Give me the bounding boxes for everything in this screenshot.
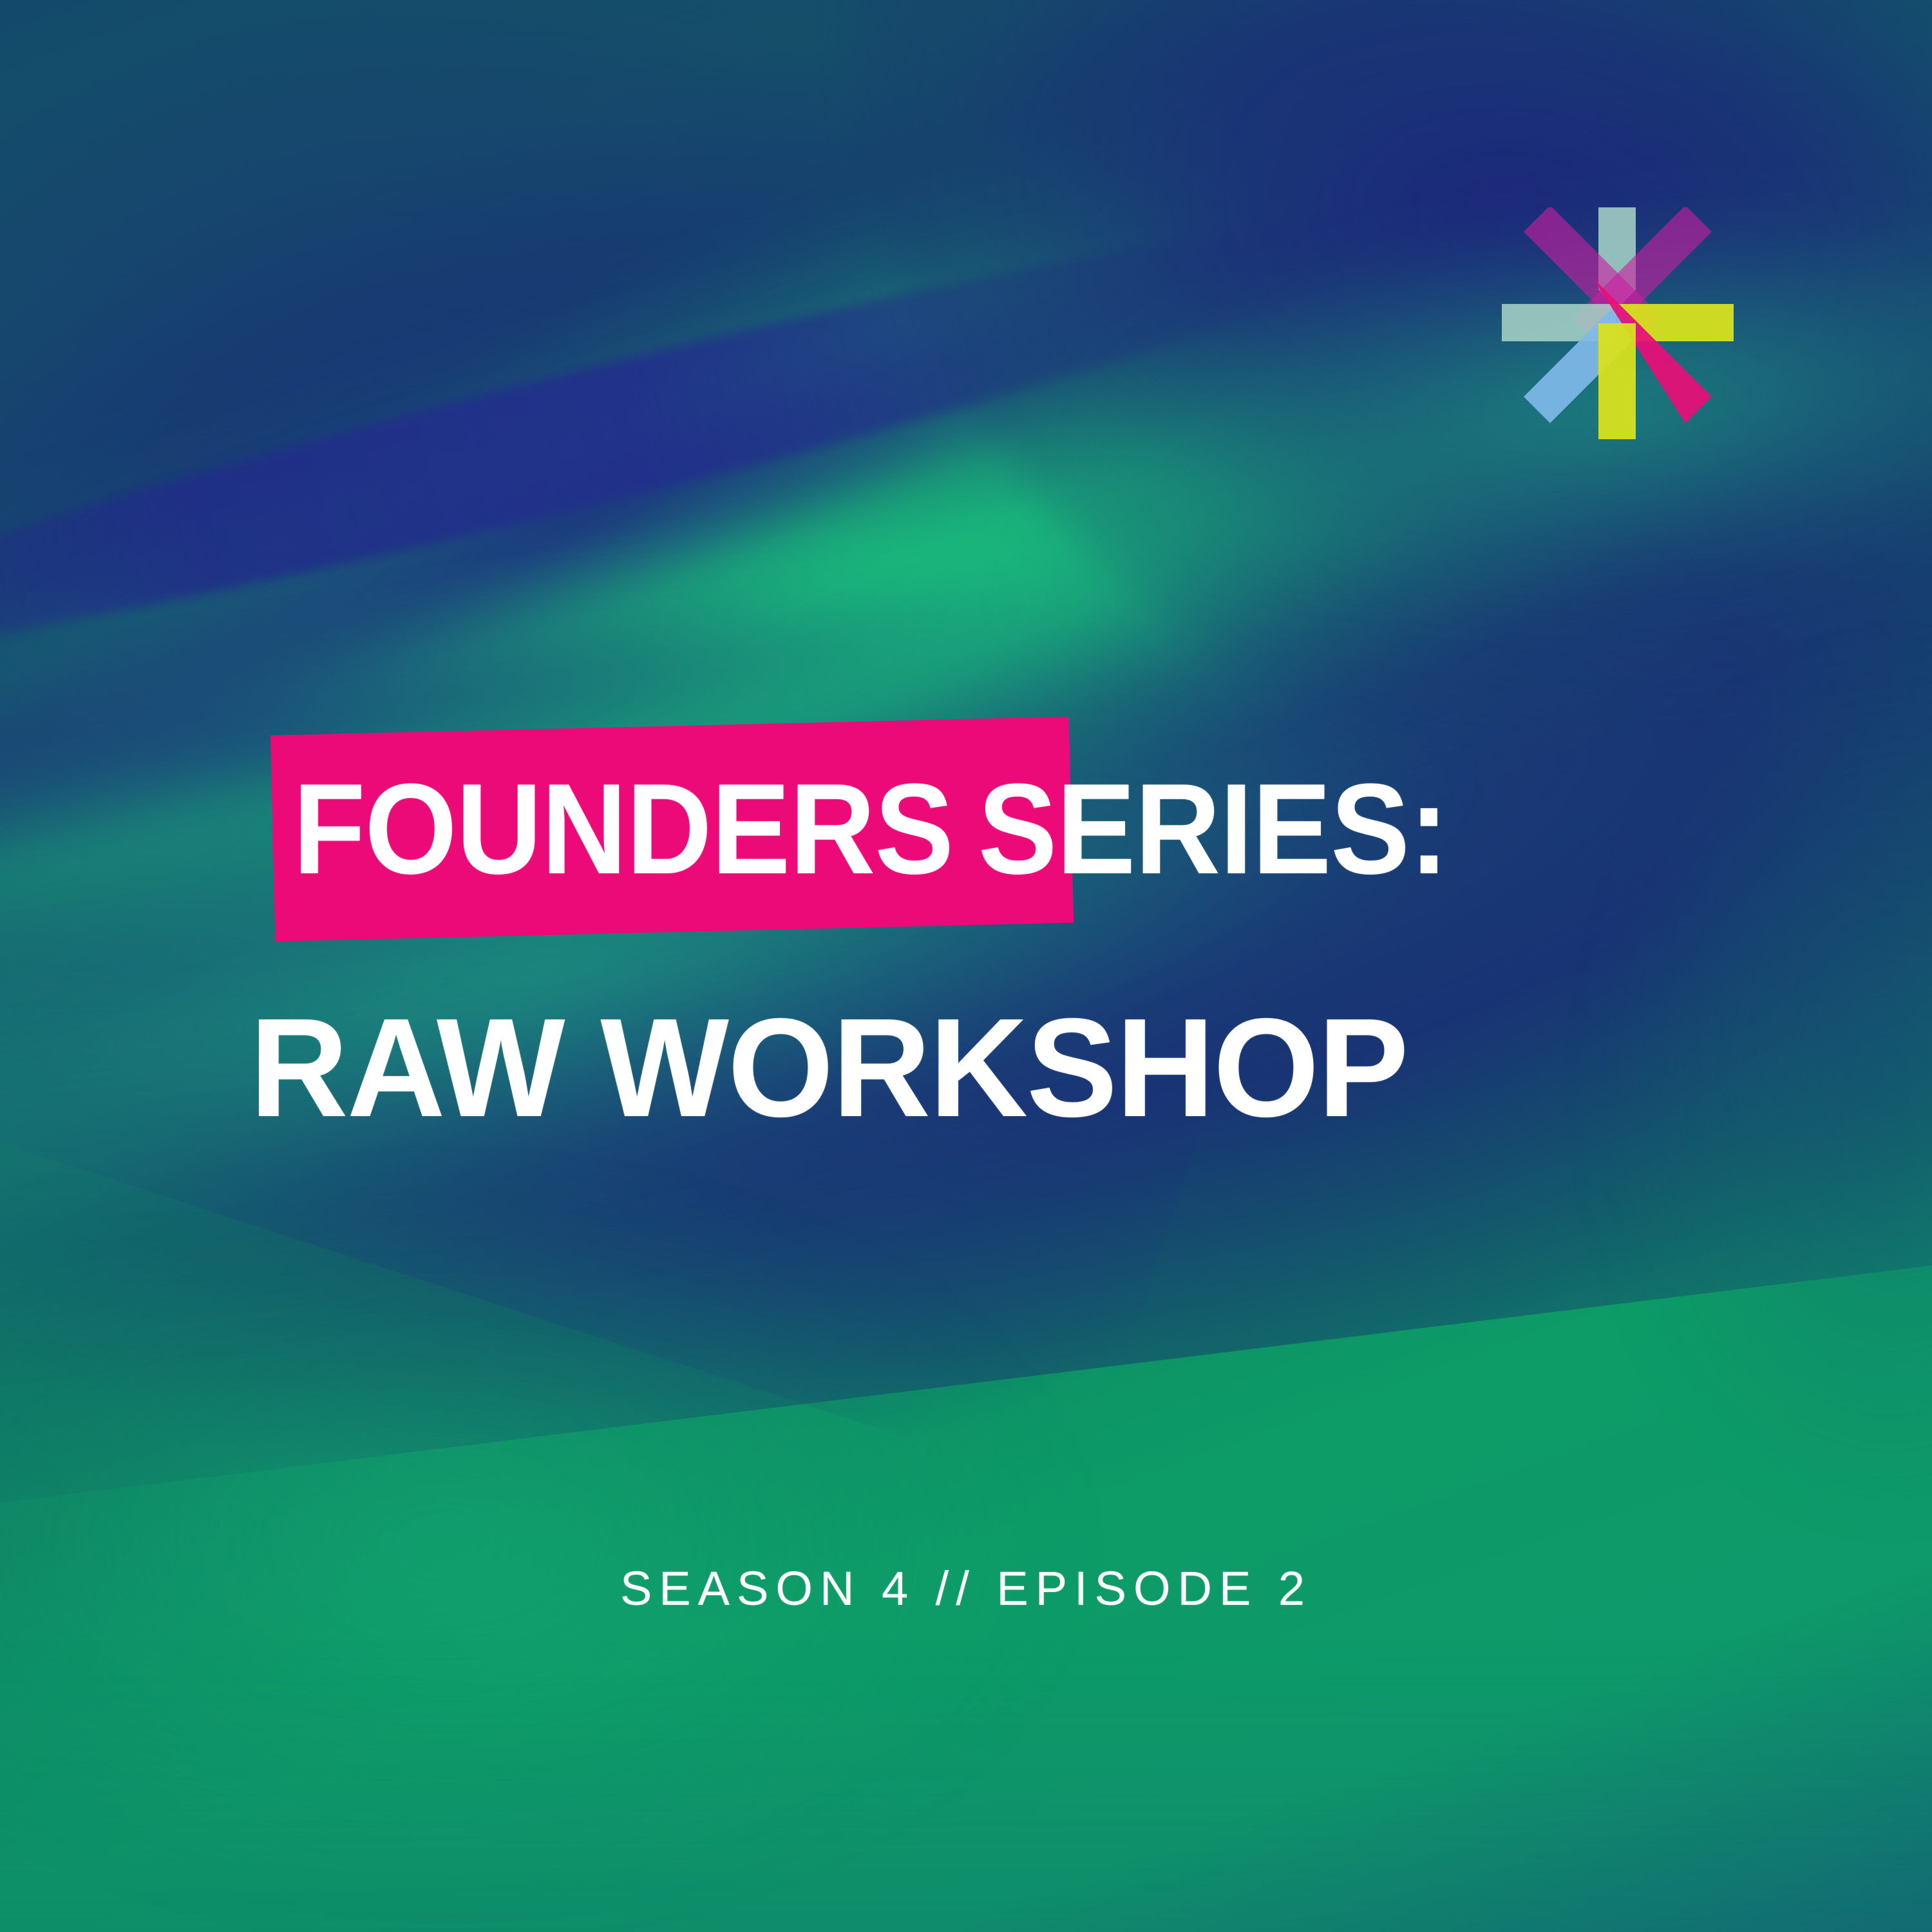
logo-bar-yellow-vertical-bottom	[1598, 323, 1636, 439]
asterisk-logo	[1502, 207, 1734, 439]
title-line-2: RAW WORKSHOP	[250, 998, 1408, 1139]
background-blue-bottom-haze	[0, 1662, 1932, 1932]
background-green-right-glow	[1049, 0, 1932, 805]
title-line-1-text: FOUNDERSSERIES:	[293, 765, 1448, 894]
podcast-cover-artwork: FOUNDERSSERIES: RAW WORKSHOP SEASON 4 //…	[0, 0, 1932, 1932]
background-green-lowerleft-glow	[0, 1121, 1198, 1932]
title-series: SERIES:	[978, 757, 1448, 901]
title-line-1: FOUNDERSSERIES:	[0, 734, 1932, 947]
background-navy-filament	[0, 159, 1459, 711]
background-navy-streak-upper	[0, 0, 1755, 1154]
season-episode-label: SEASON 4 // EPISODE 2	[0, 1565, 1932, 1613]
title-founders: FOUNDERS	[293, 757, 953, 901]
background-blue-right-haze	[1430, 580, 1932, 1584]
